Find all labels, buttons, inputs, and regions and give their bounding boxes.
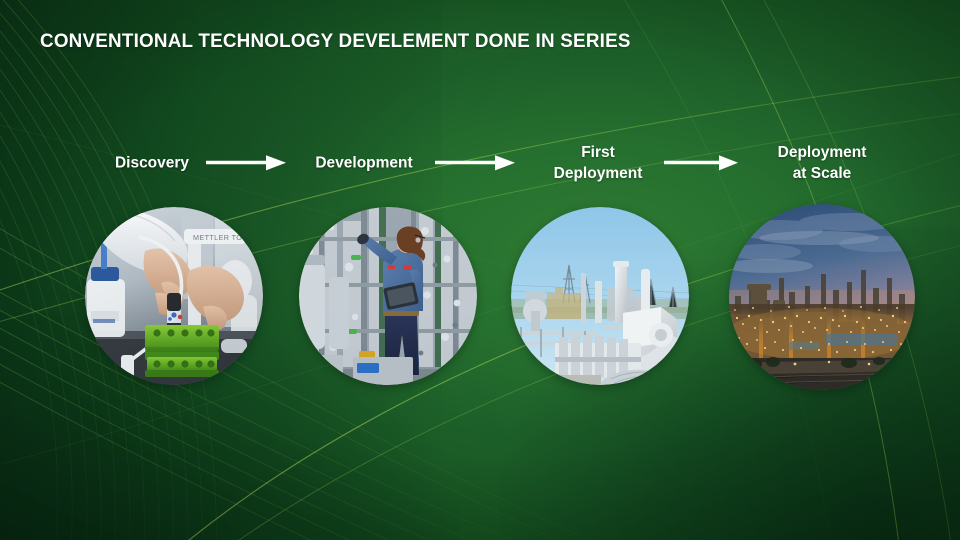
slide-canvas: CONVENTIONAL TECHNOLOGY DEVELEMENT DONE … <box>0 0 960 540</box>
stage-label-discovery: Discovery <box>115 153 189 174</box>
page-title: CONVENTIONAL TECHNOLOGY DEVELEMENT DONE … <box>40 30 631 53</box>
stage-label-deployment-at-scale: Deployment at Scale <box>778 142 867 184</box>
lab-discovery-photo: METTLER TOLEDO <box>85 207 263 385</box>
stage-label-first-deployment: First Deployment <box>554 142 643 184</box>
stage-label-development: Development <box>315 153 412 174</box>
refinery-dusk-photo <box>729 204 915 390</box>
pilot-plant-photo <box>299 207 477 385</box>
arrow-discovery-to-development-icon <box>206 153 290 173</box>
arrow-first-deployment-to-scale-icon <box>664 153 742 173</box>
daylight-plant-photo <box>511 207 689 385</box>
arrow-development-to-first-deployment-icon <box>435 153 519 173</box>
